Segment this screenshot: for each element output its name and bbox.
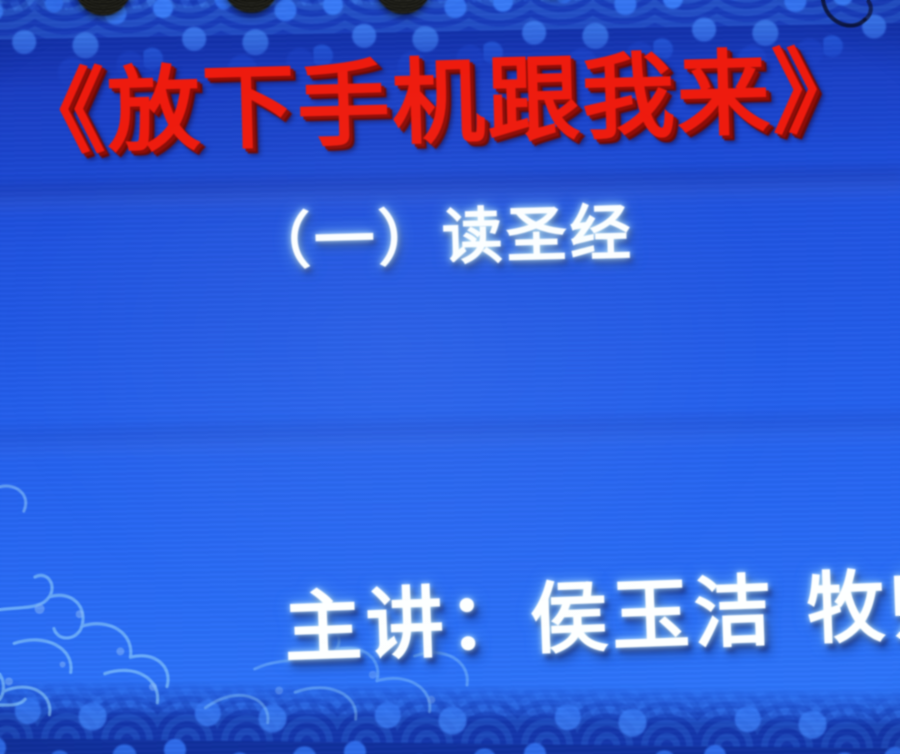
slide-bottom-border-pattern xyxy=(0,678,900,754)
presenter-line: 主讲：侯玉洁 牧师 xyxy=(283,566,900,669)
slide-subtitle: （一）读圣经 xyxy=(0,196,900,281)
slide-text-content: 《放下手机跟我来》 （一）读圣经 主讲：侯玉洁 牧师 xyxy=(0,0,900,754)
floral-vine-left-middle-icon xyxy=(0,428,87,561)
projector-band-seam-lower xyxy=(0,413,900,456)
slide-title: 《放下手机跟我来》 xyxy=(0,43,900,161)
projected-slide-surface: 《放下手机跟我来》 （一）读圣经 主讲：侯玉洁 牧师 xyxy=(0,0,900,754)
screenshot-root: 《放下手机跟我来》 （一）读圣经 主讲：侯玉洁 牧师 xyxy=(0,0,900,754)
